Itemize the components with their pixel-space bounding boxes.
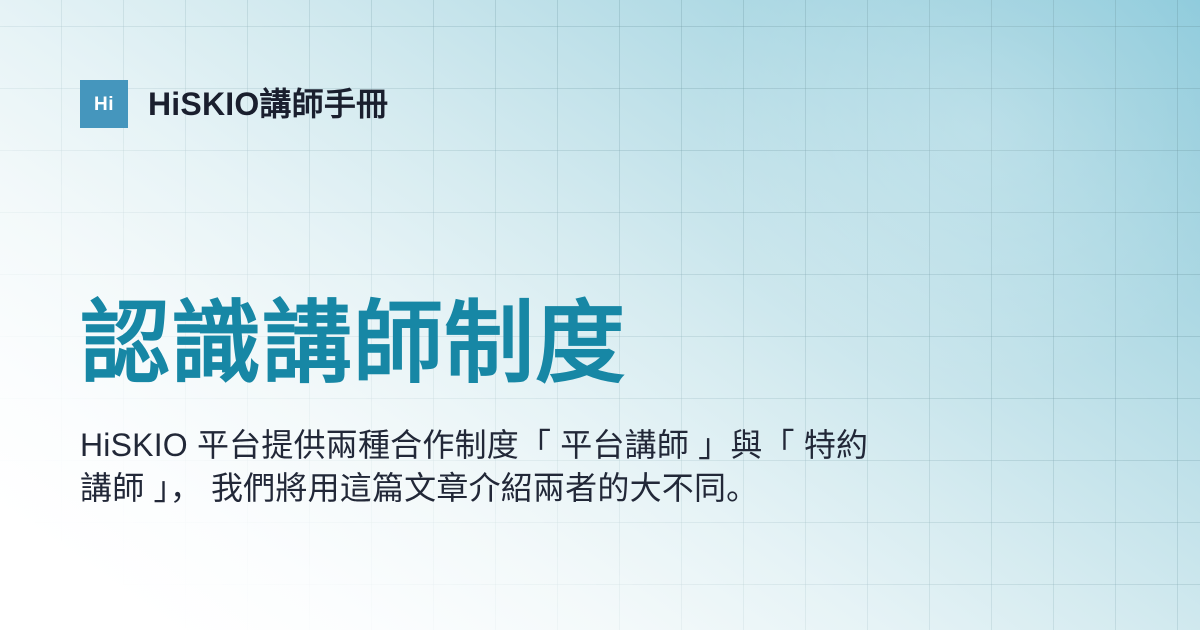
site-title: HiSKIO講師手冊 (148, 88, 388, 120)
hiskio-logo-icon: Hi (80, 80, 128, 128)
page-title: 認識講師制度 (80, 296, 626, 393)
page-description: HiSKIO 平台提供兩種合作制度「 平台講師 」與「 特約講師 」， 我們將用… (80, 424, 880, 510)
brand-lockup: Hi HiSKIO講師手冊 (80, 80, 388, 128)
article-cover-banner: Hi HiSKIO講師手冊 認識講師制度 HiSKIO 平台提供兩種合作制度「 … (0, 0, 1200, 630)
banner-content: Hi HiSKIO講師手冊 認識講師制度 HiSKIO 平台提供兩種合作制度「 … (0, 0, 1200, 630)
